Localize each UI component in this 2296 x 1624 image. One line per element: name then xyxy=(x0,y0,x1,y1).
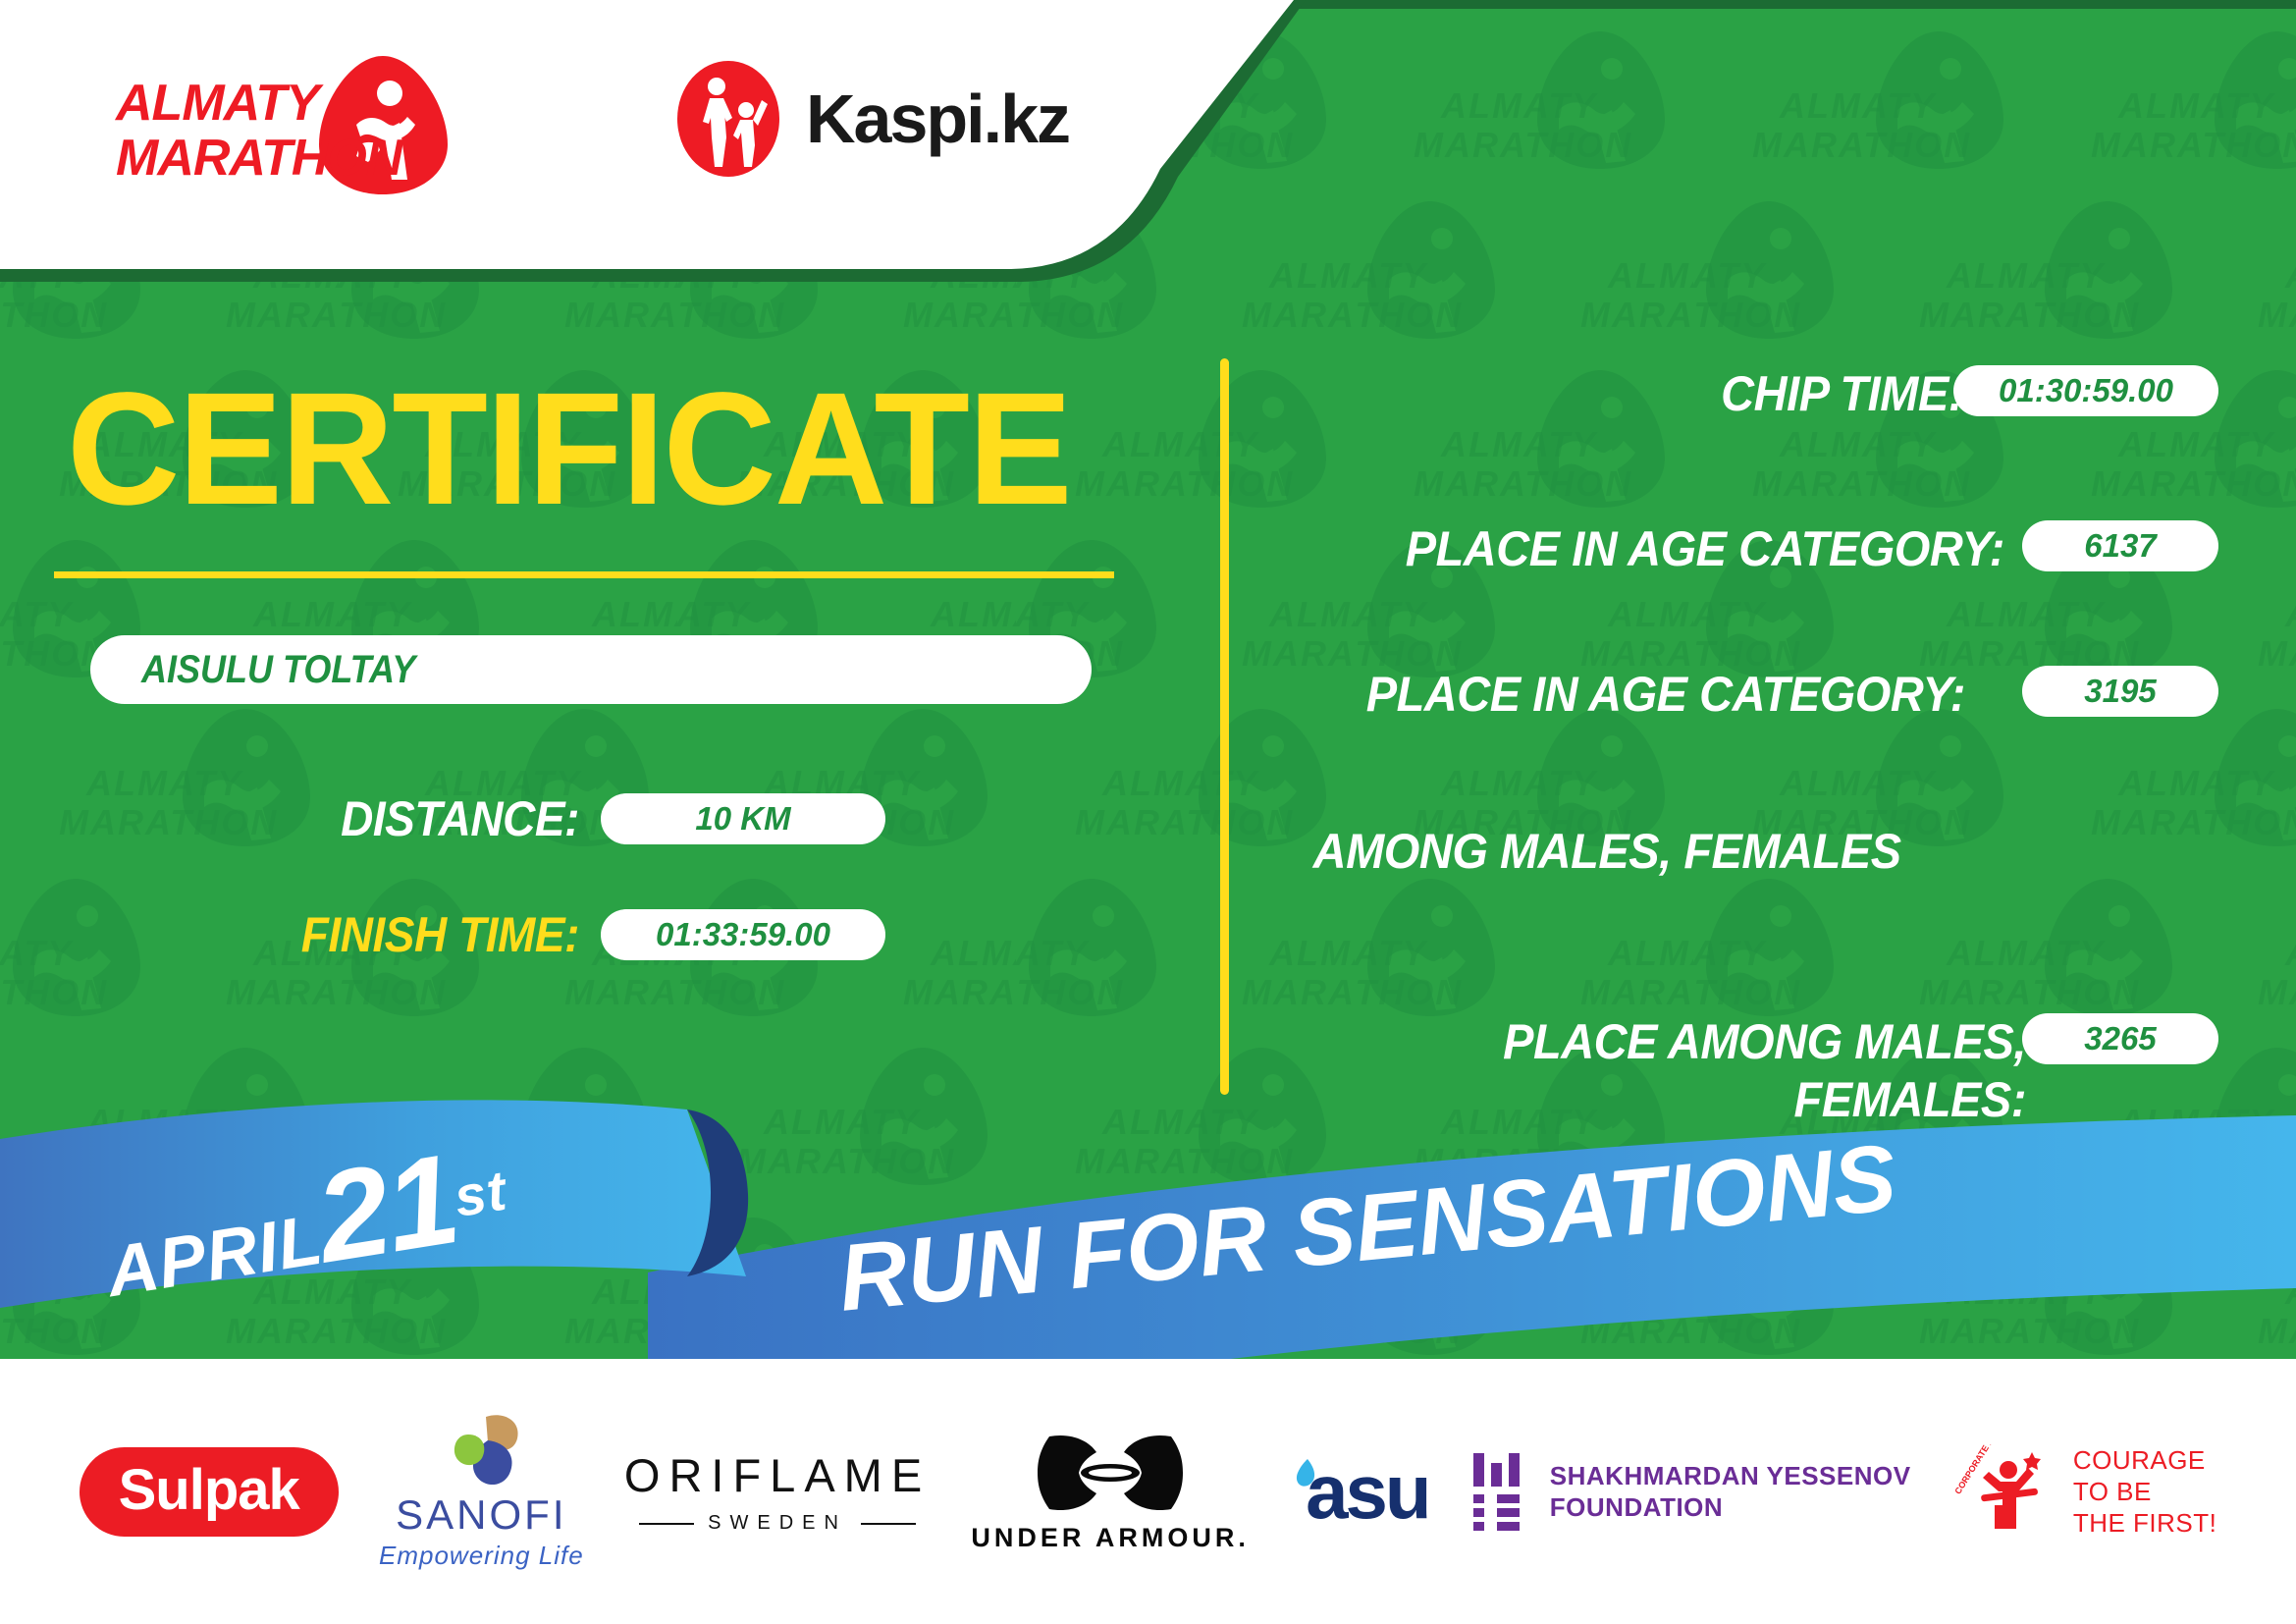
almaty-marathon-wordmark: ALMATY MARATHON xyxy=(116,76,401,186)
result-row-chip-time: CHIP TIME: 01:30:59.00 xyxy=(1276,365,2218,423)
chip-time-label: CHIP TIME: xyxy=(1317,365,1963,423)
sponsor-asu: asu xyxy=(1290,1447,1428,1537)
sanofi-wordmark: SANOFI xyxy=(396,1491,566,1539)
sponsor-under-armour: UNDER ARMOUR. xyxy=(971,1431,1250,1553)
sulpak-wordmark: Sulpak xyxy=(80,1447,339,1537)
yessenov-wordmark: SHAKHMARDAN YESSENOV FOUNDATION xyxy=(1550,1460,1911,1523)
sponsor-bar: Sulpak SANOFI Empowering Life ORIFLAME S… xyxy=(0,1359,2296,1624)
kaspi-logo: Kaspi.kz xyxy=(677,61,1069,177)
courage-line-3: THE FIRST! xyxy=(2073,1507,2217,1539)
asu-wordmark: asu xyxy=(1306,1447,1428,1537)
courage-line-2: TO BE xyxy=(2073,1476,2217,1507)
event-month: APRIL xyxy=(101,1201,328,1313)
distance-row: DISTANCE: 10 KM xyxy=(265,790,885,847)
sponsor-courage-to-be-the-first: CORPORATE FUND COURAGE TO BE THE FIRST! xyxy=(1951,1444,2217,1539)
place-age-category-value: 6137 xyxy=(2022,520,2218,571)
yessenov-bars-icon xyxy=(1469,1449,1528,1534)
yessenov-line-1: SHAKHMARDAN YESSENOV xyxy=(1550,1460,1911,1491)
place-age-category-gender-value: 3195 xyxy=(2022,666,2218,717)
sanofi-tagline: Empowering Life xyxy=(379,1541,584,1571)
certificate-canvas: ALMATY MARATHON Kaspi.kz CERTIFICATE AIS… xyxy=(0,0,2296,1624)
result-row-place-age-category: PLACE IN AGE CATEGORY: 6137 xyxy=(1276,520,2218,578)
courage-wordmark: COURAGE TO BE THE FIRST! xyxy=(2073,1444,2217,1539)
kaspi-wordmark: Kaspi.kz xyxy=(806,80,1069,158)
vertical-divider xyxy=(1220,358,1229,1095)
courage-runner-icon: CORPORATE FUND xyxy=(1951,1444,2059,1539)
distance-label: DISTANCE: xyxy=(291,790,579,847)
under-armour-wordmark: UNDER ARMOUR. xyxy=(971,1523,1250,1553)
courage-line-1: COURAGE xyxy=(2073,1444,2217,1476)
under-armour-logo-icon xyxy=(1038,1431,1183,1515)
yessenov-line-2: FOUNDATION xyxy=(1550,1491,1911,1523)
sanofi-mark-icon xyxy=(439,1413,523,1489)
sponsor-yessenov-foundation: SHAKHMARDAN YESSENOV FOUNDATION xyxy=(1469,1449,1911,1534)
finish-time-value: 01:33:59.00 xyxy=(601,909,885,960)
finish-time-row: FINISH TIME: 01:33:59.00 xyxy=(265,906,885,963)
among-males-females-sublabel: AMONG MALES, FEMALES xyxy=(1276,823,1941,881)
chip-time-value: 01:30:59.00 xyxy=(1953,365,2218,416)
sponsor-sanofi: SANOFI Empowering Life xyxy=(379,1413,584,1571)
sponsor-sulpak: Sulpak xyxy=(80,1447,339,1537)
finish-time-label: FINISH TIME: xyxy=(291,906,579,963)
sponsor-oriflame: ORIFLAME SWEDEN xyxy=(624,1448,931,1535)
title-underline xyxy=(54,571,1114,578)
athlete-name-field: AISULU TOLTAY xyxy=(90,635,1092,704)
result-row-among-males-females-sub: AMONG MALES, FEMALES xyxy=(1276,823,2218,881)
marathon-line: MARATHON xyxy=(116,131,401,186)
kaspi-figures-icon xyxy=(677,61,780,177)
oriflame-sub-wordmark: SWEDEN xyxy=(624,1512,931,1535)
event-day-ordinal: st xyxy=(451,1159,511,1228)
place-age-category-label: PLACE IN AGE CATEGORY: xyxy=(1320,520,2004,578)
athlete-name-value: AISULU TOLTAY xyxy=(141,648,415,692)
place-among-males-females-value: 3265 xyxy=(2022,1013,2218,1064)
oriflame-wordmark: ORIFLAME xyxy=(624,1448,931,1502)
event-day: 21 xyxy=(307,1126,466,1289)
almaty-line: ALMATY xyxy=(116,76,401,131)
distance-value: 10 KM xyxy=(601,793,885,844)
page-title: CERTIFICATE xyxy=(67,368,1071,528)
place-age-category-gender-label: PLACE IN AGE CATEGORY: xyxy=(1317,666,1965,724)
result-row-place-age-category-gender: PLACE IN AGE CATEGORY: 3195 xyxy=(1276,666,2218,724)
event-ribbon: APRIL21st RUN FOR SENSATIONS xyxy=(0,1080,2296,1404)
almaty-marathon-logo: ALMATY MARATHON xyxy=(116,54,440,191)
